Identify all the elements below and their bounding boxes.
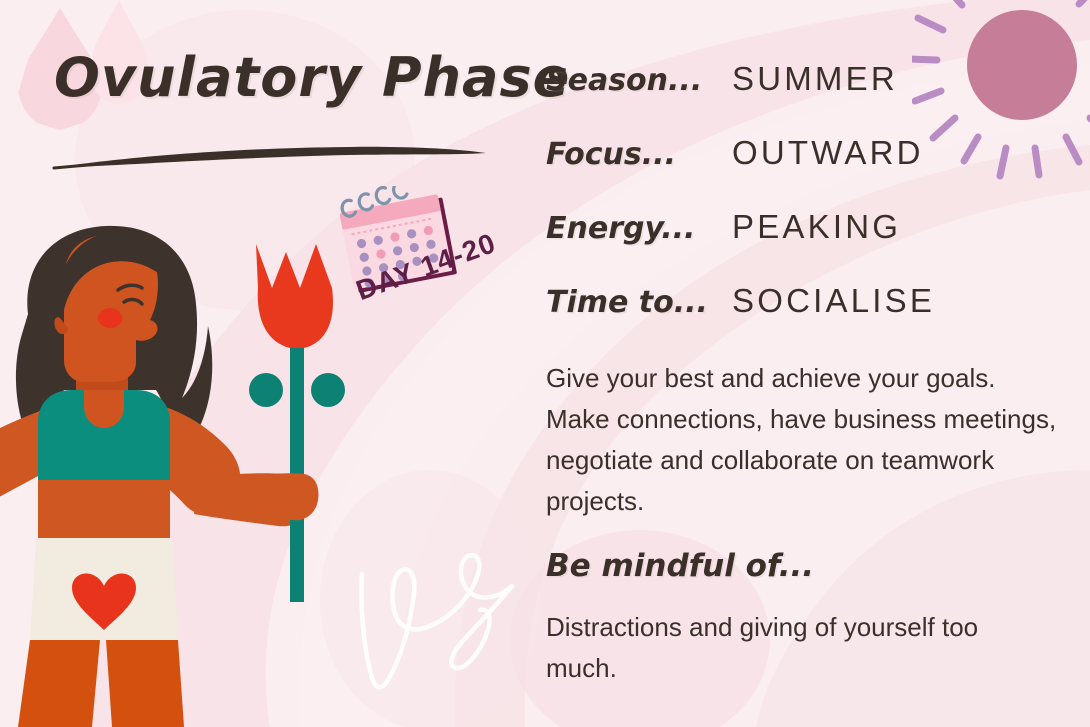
be-mindful-text: Distractions and giving of yourself too … xyxy=(546,607,1016,689)
leg-right xyxy=(106,640,184,727)
woman-illustration xyxy=(0,222,380,727)
attribute-row-energy: Energy... PEAKING xyxy=(546,208,935,282)
attribute-value-focus: OUTWARD xyxy=(732,134,924,172)
attribute-row-season: Season... SUMMER xyxy=(546,60,935,134)
hand-overlap xyxy=(244,473,318,520)
tulip-flower xyxy=(256,244,333,348)
attribute-label-focus: Focus... xyxy=(546,137,732,172)
attribute-row-focus: Focus... OUTWARD xyxy=(546,134,935,208)
blush xyxy=(98,308,122,328)
attribute-label-time-to: Time to... xyxy=(546,285,732,320)
midriff xyxy=(38,480,170,538)
attribute-value-time-to: SOCIALISE xyxy=(732,282,935,320)
tulip-leaf-right xyxy=(311,373,345,407)
attribute-label-season: Season... xyxy=(546,63,732,98)
attribute-label-energy: Energy... xyxy=(546,211,732,246)
leg-left xyxy=(18,640,100,727)
body-paragraph: Give your best and achieve your goals. M… xyxy=(546,358,1066,522)
tulip-leaf-left xyxy=(249,373,283,407)
attribute-row-time-to: Time to... SOCIALISE xyxy=(546,282,935,356)
tulip-stem xyxy=(290,334,304,602)
attribute-value-season: SUMMER xyxy=(732,60,898,98)
attribute-list: Season... SUMMER Focus... OUTWARD Energy… xyxy=(546,60,935,356)
sun-disc xyxy=(967,10,1077,120)
sun-icon xyxy=(912,0,1090,180)
be-mindful-heading: Be mindful of... xyxy=(546,548,814,584)
ovulatory-phase-infographic: Ovulatory Phase Season... SUMMER Focus..… xyxy=(0,0,1090,727)
title-underline-swoosh xyxy=(50,140,490,174)
attribute-value-energy: PEAKING xyxy=(732,208,901,246)
page-title: Ovulatory Phase xyxy=(54,46,570,109)
